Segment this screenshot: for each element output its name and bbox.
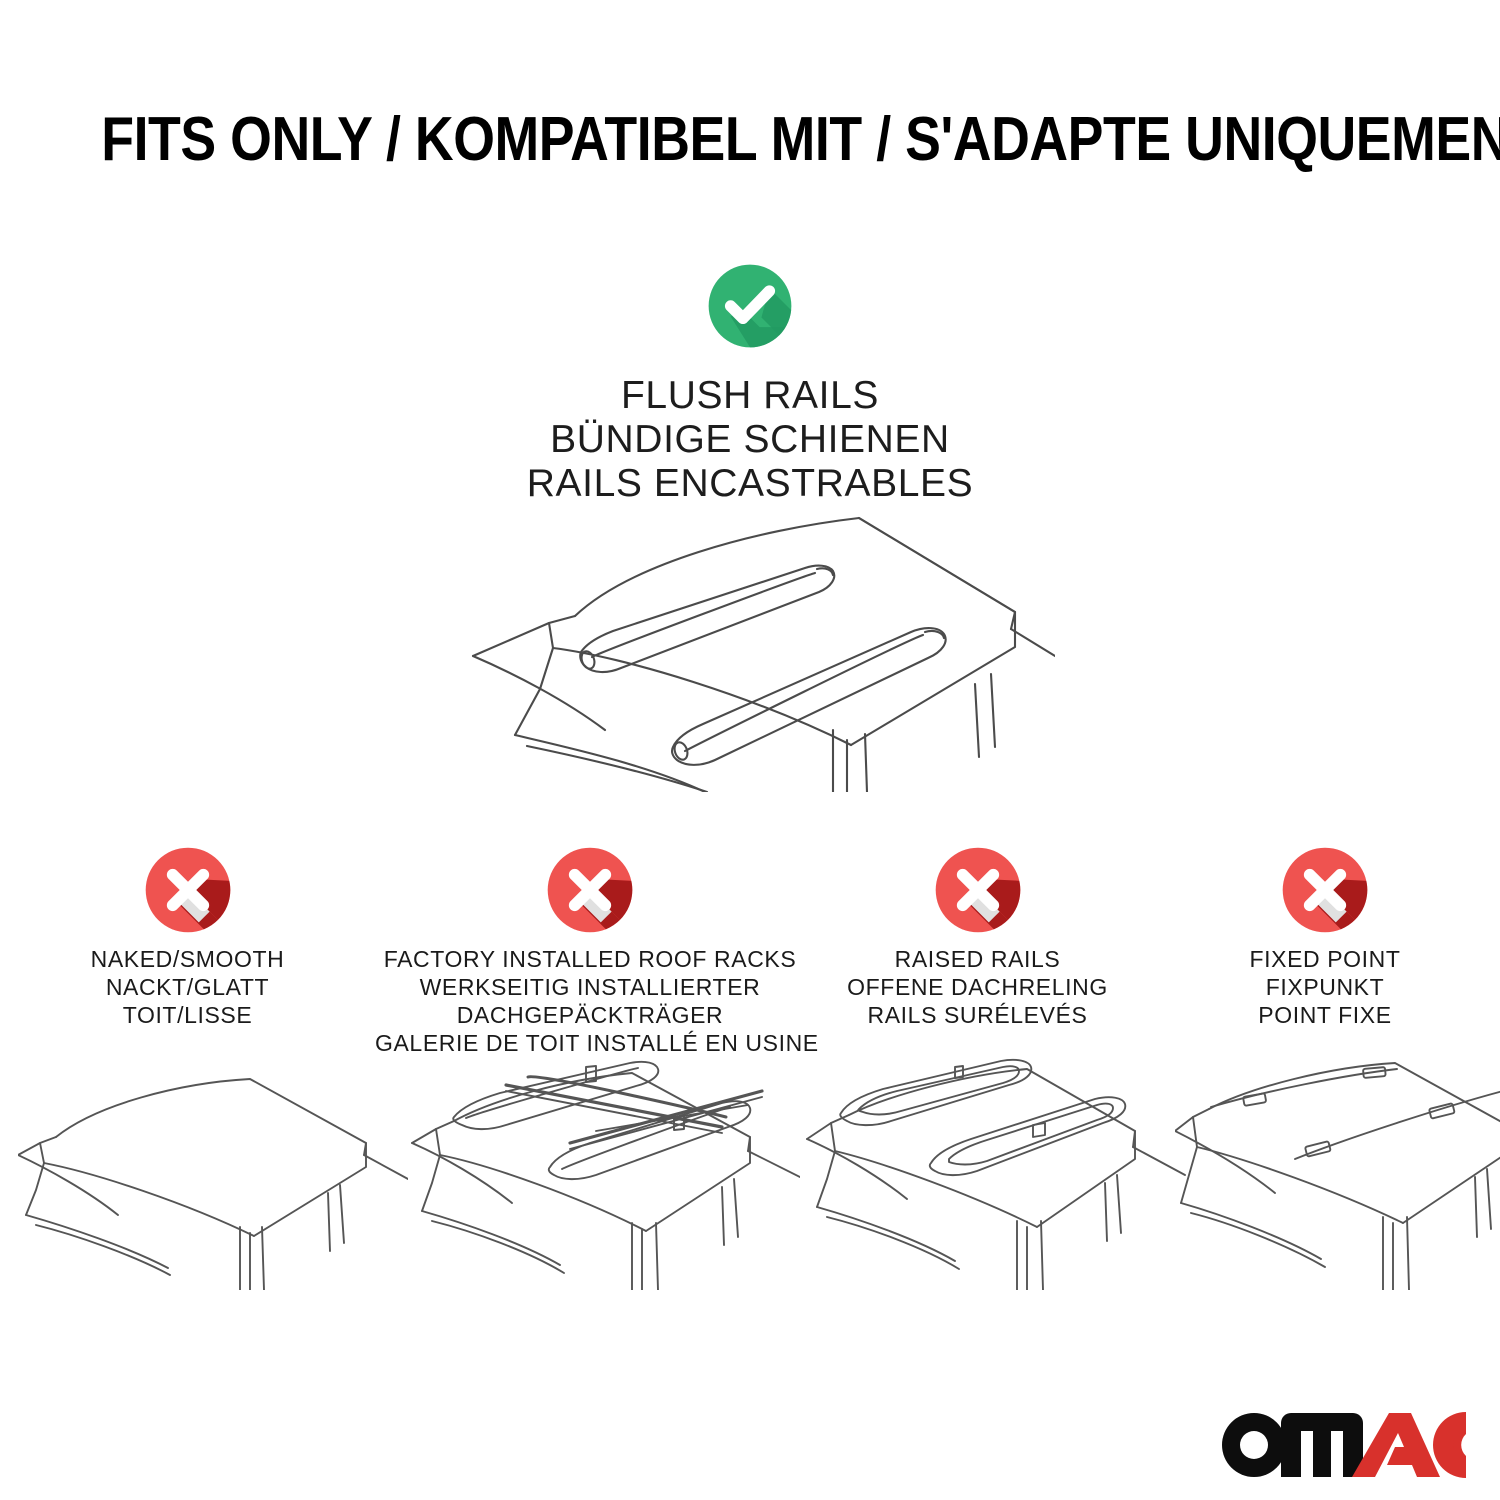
red-cross-circle-icon xyxy=(933,845,1023,935)
incompatible-labels: FIXED POINT FIXPUNKT POINT FIXE xyxy=(1150,945,1500,1029)
page-title: FITS ONLY / KOMPATIBEL MIT / S'ADAPTE UN… xyxy=(101,104,1399,176)
incompatible-illustration-row xyxy=(0,1055,1500,1290)
omac-logo xyxy=(1221,1406,1466,1478)
compatibility-infographic: FITS ONLY / KOMPATIBEL MIT / S'ADAPTE UN… xyxy=(0,0,1500,1500)
green-check-circle-icon xyxy=(706,262,794,350)
incompatible-label-en: NAKED/SMOOTH xyxy=(0,945,375,973)
incompatible-label-fr: POINT FIXE xyxy=(1150,1001,1500,1029)
car-roof-naked-smooth-illustration xyxy=(18,1055,408,1290)
incompatible-column-fixed-point: FIXED POINT FIXPUNKT POINT FIXE xyxy=(1150,845,1500,1057)
logo-letter-a xyxy=(1352,1413,1440,1477)
incompatible-label-fr: GALERIE DE TOIT INSTALLÉ EN USINE xyxy=(375,1029,805,1057)
compatible-label-en: FLUSH RAILS xyxy=(250,374,1250,418)
incompatible-labels: FACTORY INSTALLED ROOF RACKS WERKSEITIG … xyxy=(375,945,805,1057)
incompatible-labels: RAISED RAILS OFFENE DACHRELING RAILS SUR… xyxy=(805,945,1150,1029)
incompatible-label-fr: RAILS SURÉLEVÉS xyxy=(805,1001,1150,1029)
incompatible-label-fr: TOIT/LISSE xyxy=(0,1001,375,1029)
incompatible-label-en: FACTORY INSTALLED ROOF RACKS xyxy=(375,945,805,973)
logo-letter-c xyxy=(1433,1412,1466,1478)
car-roof-factory-rack-illustration xyxy=(410,1055,800,1290)
compatible-labels: FLUSH RAILS BÜNDIGE SCHIENEN RAILS ENCAS… xyxy=(250,374,1250,506)
compatible-label-de: BÜNDIGE SCHIENEN xyxy=(250,418,1250,462)
incompatible-label-de-2: DACHGEPÄCKTRÄGER xyxy=(375,1001,805,1029)
red-cross-circle-icon xyxy=(143,845,233,935)
car-roof-raised-rails-illustration xyxy=(805,1055,1195,1290)
incompatible-label-en: RAISED RAILS xyxy=(805,945,1150,973)
incompatible-row: NAKED/SMOOTH NACKT/GLATT TOIT/LISSE xyxy=(0,845,1500,1057)
incompatible-label-en: FIXED POINT xyxy=(1150,945,1500,973)
car-roof-flush-rails-illustration xyxy=(455,492,1055,792)
incompatible-column-raised-rails: RAISED RAILS OFFENE DACHRELING RAILS SUR… xyxy=(805,845,1150,1057)
incompatible-column-factory-racks: FACTORY INSTALLED ROOF RACKS WERKSEITIG … xyxy=(375,845,805,1057)
logo-letter-m xyxy=(1281,1413,1363,1477)
incompatible-column-naked-smooth: NAKED/SMOOTH NACKT/GLATT TOIT/LISSE xyxy=(0,845,375,1057)
incompatible-label-de: NACKT/GLATT xyxy=(0,973,375,1001)
compatible-block: FLUSH RAILS BÜNDIGE SCHIENEN RAILS ENCAS… xyxy=(250,262,1250,506)
red-cross-circle-icon xyxy=(545,845,635,935)
logo-letter-o xyxy=(1222,1413,1286,1477)
incompatible-label-de: FIXPUNKT xyxy=(1150,973,1500,1001)
incompatible-labels: NAKED/SMOOTH NACKT/GLATT TOIT/LISSE xyxy=(0,945,375,1029)
incompatible-label-de: OFFENE DACHRELING xyxy=(805,973,1150,1001)
incompatible-label-de-1: WERKSEITIG INSTALLIERTER xyxy=(375,973,805,1001)
car-roof-fixed-point-illustration xyxy=(1175,1055,1500,1290)
red-cross-circle-icon xyxy=(1280,845,1370,935)
